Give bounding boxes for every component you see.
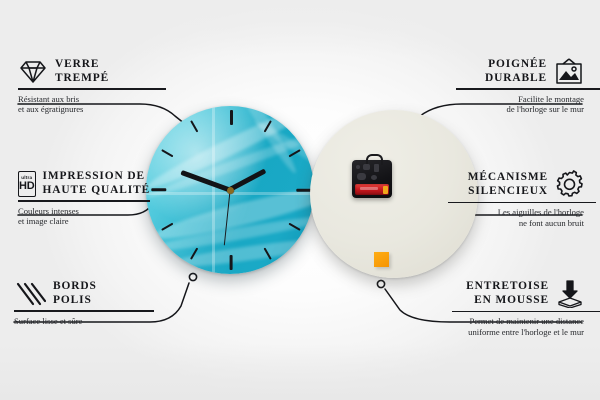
feature-title: TREMPÉ xyxy=(55,72,109,86)
feature-description: Couleurs intenses xyxy=(18,206,142,217)
ultra-hd-badge-main-text: HD xyxy=(19,181,35,192)
mechanism-detail xyxy=(374,164,379,172)
feature-poignee-durable: POIGNÉE DURABLE Facilite le montage de l… xyxy=(456,58,584,115)
feature-description: ne font aucun bruit xyxy=(448,218,584,229)
feature-divider xyxy=(456,88,600,89)
mechanism-detail xyxy=(371,175,377,180)
callout-endpoint-entretoise xyxy=(377,280,384,287)
feature-description: Permet de maintenir une distance xyxy=(452,316,584,327)
feature-title: ENTRETOISE xyxy=(466,280,549,294)
feature-description: de l'horloge sur le mur xyxy=(456,104,584,115)
mechanism-detail xyxy=(356,165,360,169)
down-arrow-on-pad-icon xyxy=(556,280,584,308)
callout-endpoint-bords-polis xyxy=(189,273,196,280)
clock-center-hub xyxy=(227,187,234,194)
feature-description: et image claire xyxy=(18,216,142,227)
feature-description: Surface lisse et sûre xyxy=(14,316,140,327)
ultra-hd-badge-icon: ultra HD xyxy=(18,171,36,197)
feature-title: POLIS xyxy=(53,294,97,308)
feature-divider xyxy=(14,310,154,311)
feature-verre-trempe: VERRE TREMPÉ Résistant aux bris et aux é… xyxy=(18,58,142,115)
feature-impression-haute-qualite: ultra HD IMPRESSION DE HAUTE QUALITÉ Cou… xyxy=(18,170,142,227)
foam-spacer xyxy=(374,252,389,267)
feature-title: VERRE xyxy=(55,58,109,72)
polished-edge-stripes-icon xyxy=(14,281,46,307)
feature-title: IMPRESSION DE xyxy=(43,170,151,184)
feature-description: et aux égratignures xyxy=(18,104,142,115)
clock-movement-mechanism xyxy=(352,160,392,198)
feature-divider xyxy=(18,200,150,201)
battery-label-stripe xyxy=(360,187,378,190)
diamond-icon xyxy=(18,59,48,85)
feature-divider xyxy=(448,202,596,203)
clock-tick xyxy=(230,255,233,270)
clock-tick xyxy=(151,189,166,192)
feature-description: Facilite le montage xyxy=(456,94,584,105)
feature-divider xyxy=(452,311,600,312)
mechanism-detail xyxy=(357,173,366,180)
feature-entretoise-en-mousse: ENTRETOISE EN MOUSSE Permet de maintenir… xyxy=(452,280,584,338)
glass-wall-clock-face xyxy=(146,106,314,274)
feature-description: Résistant aux bris xyxy=(18,94,142,105)
feature-divider xyxy=(18,88,166,89)
gear-icon xyxy=(555,170,584,199)
mechanism-detail xyxy=(363,164,370,170)
battery-positive-terminal xyxy=(383,186,388,194)
feature-title: BORDS xyxy=(53,280,97,294)
picture-frame-hanger-icon xyxy=(554,58,584,85)
clock-tick xyxy=(230,110,233,125)
feature-title: HAUTE QUALITÉ xyxy=(43,184,151,198)
feature-mecanisme-silencieux: MÉCANISME SILENCIEUX Les aiguilles de l'… xyxy=(448,170,584,229)
feature-title: DURABLE xyxy=(485,72,547,86)
feature-title: POIGNÉE xyxy=(485,58,547,72)
feature-description: Les aiguilles de l'horloge xyxy=(448,207,584,218)
feature-title: SILENCIEUX xyxy=(468,185,548,199)
aa-battery xyxy=(355,184,389,195)
product-feature-infographic: VERRE TREMPÉ Résistant aux bris et aux é… xyxy=(0,0,600,400)
feature-title: EN MOUSSE xyxy=(466,294,549,308)
feature-title: MÉCANISME xyxy=(468,171,548,185)
feature-description: uniforme entre l'horloge et le mur xyxy=(452,327,584,338)
feature-bords-polis: BORDS POLIS Surface lisse et sûre xyxy=(14,280,140,326)
